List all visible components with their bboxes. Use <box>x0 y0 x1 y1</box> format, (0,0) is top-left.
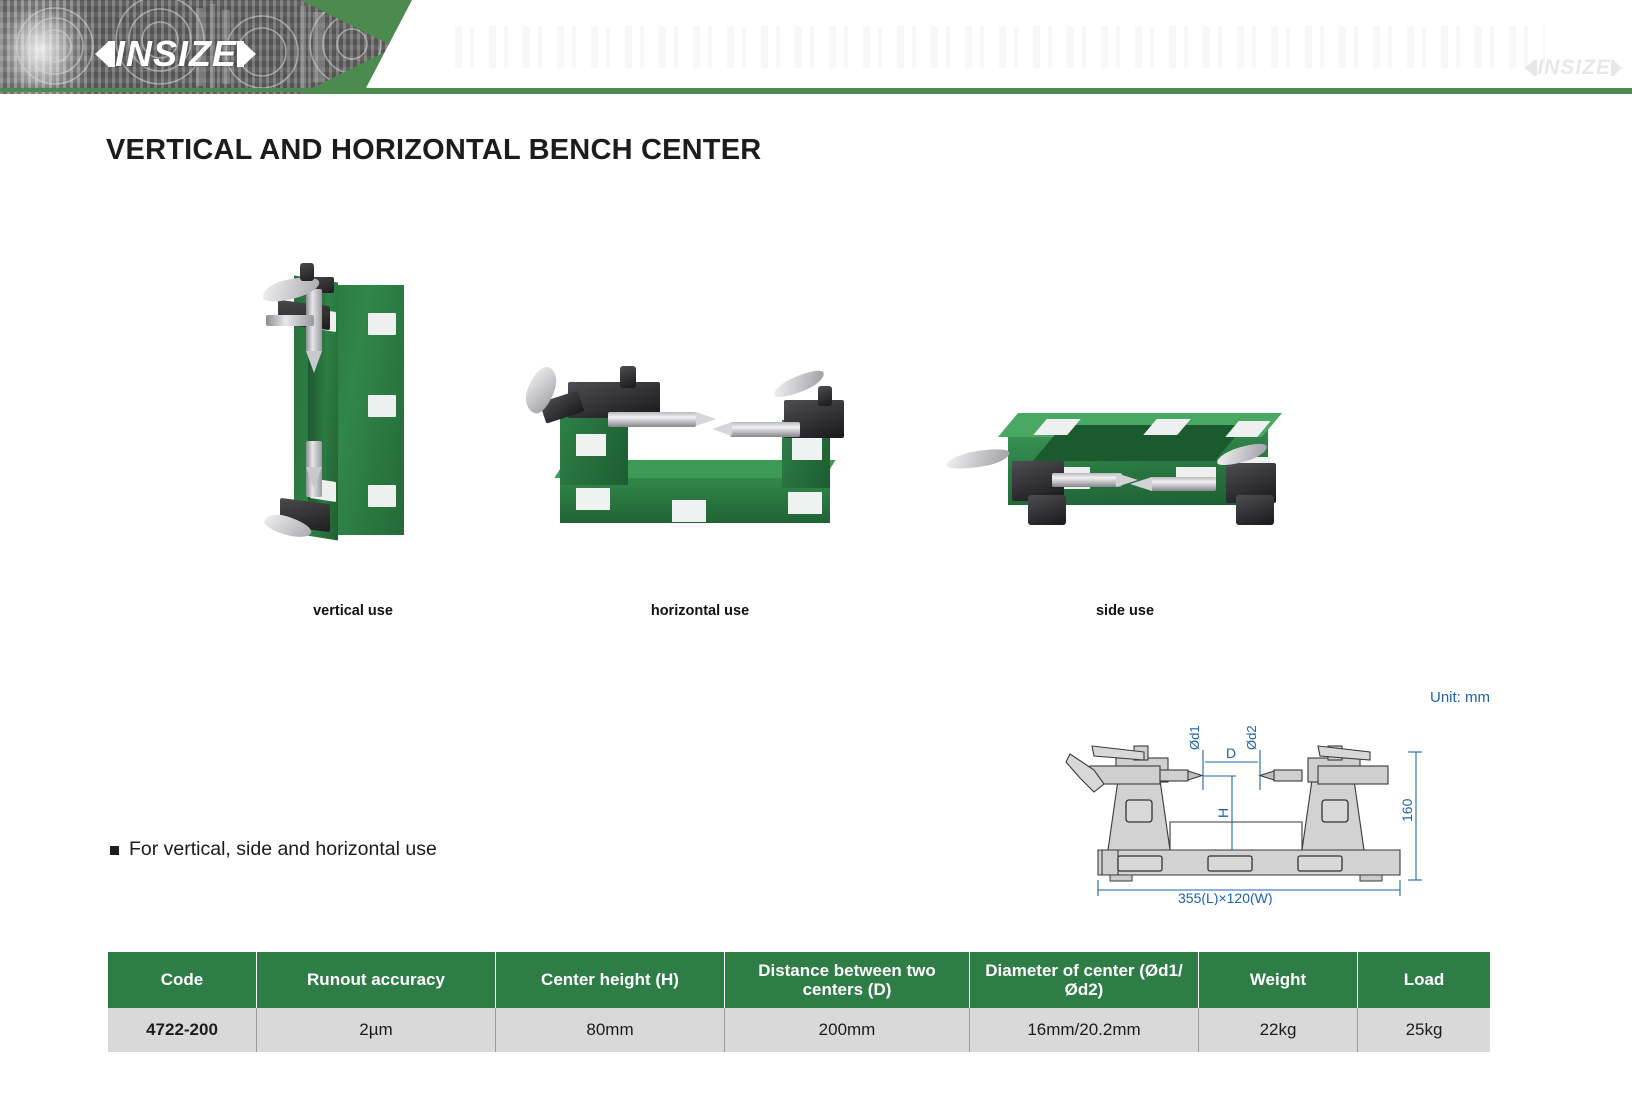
feature-text: For vertical, side and horizontal use <box>129 838 437 861</box>
table-row: 4722-200 2µm 80mm 200mm 16mm/20.2mm 22kg… <box>108 1008 1490 1052</box>
logo-left-arrow-icon <box>95 41 109 67</box>
col-header-weight: Weight <box>1199 952 1358 1008</box>
bullet-square-icon <box>110 846 119 855</box>
specifications-table: Code Runout accuracy Center height (H) D… <box>108 952 1490 1052</box>
technical-drawing: Unit: mm <box>1060 690 1480 905</box>
col-header-center-height: Center height (H) <box>496 952 725 1008</box>
logo-wordmark: INSIZE <box>115 33 237 75</box>
cell-runout-accuracy: 2µm <box>257 1008 496 1052</box>
dim-label-d2: Ød2 <box>1244 725 1259 750</box>
cell-diameter-of-center: 16mm/20.2mm <box>970 1008 1199 1052</box>
col-header-runout-accuracy: Runout accuracy <box>257 952 496 1008</box>
cell-weight: 22kg <box>1199 1008 1358 1052</box>
header-bottom-rule <box>0 88 1632 92</box>
cell-center-height: 80mm <box>496 1008 725 1052</box>
caption-horizontal-use: horizontal use <box>600 603 800 619</box>
table-header-row: Code Runout accuracy Center height (H) D… <box>108 952 1490 1008</box>
logo-right-arrow-icon <box>242 41 256 67</box>
caption-vertical-use: vertical use <box>258 603 448 619</box>
insize-watermark: INSIZE <box>1525 56 1622 80</box>
caption-side-use: side use <box>1030 603 1220 619</box>
feature-list-item: For vertical, side and horizontal use <box>110 838 437 861</box>
page-title: VERTICAL AND HORIZONTAL BENCH CENTER <box>106 134 761 167</box>
page-header: INSIZE INSIZE <box>0 0 1632 96</box>
product-photo-vertical-use <box>258 255 448 565</box>
col-header-diameter-of-center: Diameter of center (Ød1/Ød2) <box>970 952 1199 1008</box>
cell-distance-between-centers: 200mm <box>725 1008 970 1052</box>
dim-label-h: H <box>1215 808 1231 818</box>
header-ghost-pattern <box>455 26 1545 68</box>
logo-left-bar-icon <box>108 41 115 67</box>
dim-label-d: D <box>1226 745 1236 761</box>
watermark-wordmark: INSIZE <box>1537 56 1611 80</box>
col-header-load: Load <box>1358 952 1491 1008</box>
product-photo-horizontal-use <box>520 360 860 565</box>
col-header-code: Code <box>108 952 257 1008</box>
dim-label-d1: Ød1 <box>1187 725 1202 750</box>
bench-center-dimension-drawing: Ød1 D Ød2 H 160 355(L)×120(W) <box>1060 690 1480 905</box>
insize-logo[interactable]: INSIZE <box>95 34 256 74</box>
watermark-right-arrow-icon <box>1613 60 1622 76</box>
product-photo-side-use <box>940 395 1340 570</box>
cell-code: 4722-200 <box>108 1008 257 1052</box>
dim-label-height: 160 <box>1399 798 1415 822</box>
dim-label-base: 355(L)×120(W) <box>1178 890 1273 905</box>
col-header-distance-between-centers: Distance between two centers (D) <box>725 952 970 1008</box>
cell-load: 25kg <box>1358 1008 1491 1052</box>
